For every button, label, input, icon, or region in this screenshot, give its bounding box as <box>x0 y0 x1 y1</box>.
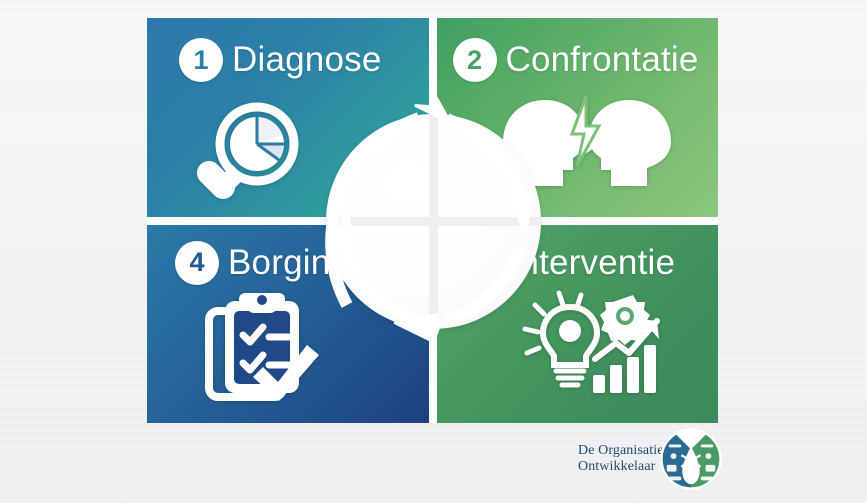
quadrant-diagnose-label: Diagnose <box>232 40 381 80</box>
quadrant-borging-label: Borging <box>228 243 350 283</box>
magnifier-pie-chart-icon <box>191 100 303 215</box>
brand-logo-line2: Ontwikkelaar <box>578 459 664 475</box>
quadrant-borging[interactable]: 4 Borging <box>147 225 429 424</box>
step-number-badge-2: 2 <box>453 38 497 82</box>
lightbulb-gear-growth-chart-icon <box>517 287 677 398</box>
quadrant-confrontatie-heading: 2 Confrontatie <box>453 38 699 82</box>
clipboard-checkmark-icon <box>203 289 325 412</box>
quadrant-confrontatie-label: Confrontatie <box>506 40 699 80</box>
quadrant-diagnose-heading: 1 Diagnose <box>179 38 381 82</box>
quadrant-borging-heading: 4 Borging <box>175 241 350 285</box>
quadrant-interventie-heading: 3 Interventie <box>457 241 676 285</box>
step-number-badge-4: 4 <box>175 241 219 285</box>
two-heads-lightning-icon <box>489 94 671 203</box>
brand-logo-line1: De Organisatie <box>578 443 664 459</box>
brand-logo-text: De Organisatie Ontwikkelaar <box>578 443 664 475</box>
quadrant-diagnose[interactable]: 1 Diagnose <box>147 18 429 217</box>
step-number-badge-1: 1 <box>179 38 223 82</box>
quadrant-interventie[interactable]: 3 Interventie <box>437 225 719 424</box>
process-diagram-panel: 1 Diagnose <box>147 18 718 423</box>
quadrant-interventie-label: Interventie <box>510 243 676 283</box>
quadrant-confrontatie[interactable]: 2 Confrontatie <box>437 18 719 217</box>
organisatie-ontwikkelaar-emblem <box>660 428 722 490</box>
brand-logo[interactable]: De Organisatie Ontwikkelaar <box>578 428 722 490</box>
